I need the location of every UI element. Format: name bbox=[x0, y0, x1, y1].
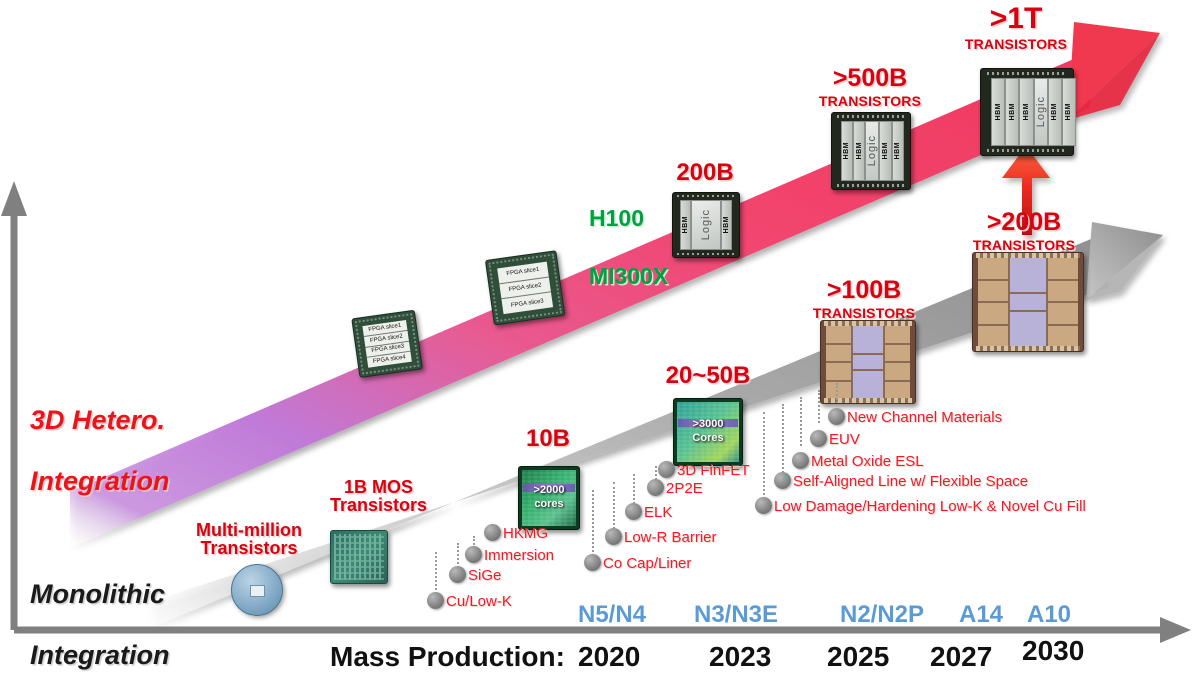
leader-line bbox=[818, 390, 820, 423]
count-500b: >500B TRANSISTORS bbox=[808, 66, 932, 108]
year-label-2025: 2025 bbox=[827, 641, 889, 673]
node-label-a10: A10 bbox=[1027, 601, 1071, 629]
tech-label-self-aligned-line: Self-Aligned Line w/ Flexible Space bbox=[793, 473, 1028, 490]
bullet-dot bbox=[484, 524, 501, 541]
tech-label-elk: ELK bbox=[644, 504, 672, 521]
tech-label-sige: SiGe bbox=[468, 567, 501, 584]
year-label-2030: 2030 bbox=[1022, 635, 1084, 667]
node-label-n5-n4: N5/N4 bbox=[578, 601, 646, 629]
bullet-dot bbox=[584, 554, 601, 571]
leader-line bbox=[457, 543, 459, 568]
y-axis-arrow bbox=[1, 181, 27, 630]
band-label-3d-hetero: 3D Hetero. Integration bbox=[30, 375, 170, 496]
leader-line bbox=[782, 404, 784, 473]
tech-label-cu-low-k: Cu/Low-K bbox=[446, 593, 512, 610]
chip-200b-hbm-package: HBM Logic HBM bbox=[672, 192, 738, 256]
bullet-dot bbox=[625, 503, 642, 520]
count-100b: >100B TRANSISTORS bbox=[812, 278, 916, 320]
count-200b-monolithic: >200B TRANSISTORS bbox=[964, 210, 1084, 252]
bullet-dot bbox=[465, 546, 482, 563]
tech-label-low-damage-hardening: Low Damage/Hardening Low-K & Novel Cu Fi… bbox=[774, 498, 1086, 515]
band-label-mono-line1: Monolithic bbox=[30, 579, 165, 609]
leader-line bbox=[633, 474, 635, 504]
hbm-label: HBM bbox=[882, 142, 889, 159]
bullet-dot bbox=[427, 592, 444, 609]
bullet-dot bbox=[774, 472, 791, 489]
bullet-dot bbox=[449, 566, 466, 583]
hbm-label: HBM bbox=[1023, 103, 1030, 120]
bullet-dot bbox=[810, 430, 827, 447]
chip-500b-hbm-package: HBM HBM Logic HBM HBM bbox=[831, 112, 909, 188]
roadmap-diagram: 3D Hetero. Integration Monolithic Integr… bbox=[0, 0, 1200, 683]
tech-label-3d-finfet: 3D FinFET bbox=[677, 462, 750, 479]
logic-label: Logic bbox=[700, 209, 712, 240]
chip-1t-hbm-package: HBM HBM HBM Logic HBM HBM bbox=[980, 68, 1072, 154]
mass-production-label: Mass Production: bbox=[330, 641, 565, 673]
tech-label-metal-oxide-esl: Metal Oxide ESL bbox=[811, 453, 924, 470]
band-label-3d-line2: Integration bbox=[30, 466, 170, 496]
node-label-n3-n3e: N3/N3E bbox=[694, 601, 778, 629]
cores2000-line1: >2000 bbox=[534, 484, 565, 496]
leader-line bbox=[655, 466, 657, 480]
tech-label-low-r-barrier: Low-R Barrier bbox=[624, 529, 717, 546]
leader-line bbox=[613, 482, 615, 529]
tech-label-2p2e: 2P2E bbox=[666, 480, 703, 497]
hbm-label: HBM bbox=[894, 142, 901, 159]
count-multi-million: Multi-million Transistors bbox=[196, 521, 302, 557]
chip-100b-die bbox=[820, 320, 908, 396]
hbm-label: HBM bbox=[995, 103, 1002, 120]
tech-label-co-cap-liner: Co Cap/Liner bbox=[603, 555, 691, 572]
node-label-a14: A14 bbox=[959, 601, 1003, 629]
band-label-3d-line1: 3D Hetero. bbox=[30, 405, 165, 435]
bullet-dot bbox=[828, 408, 845, 425]
leader-line bbox=[435, 552, 437, 594]
logic-label: Logic bbox=[1035, 96, 1047, 127]
hbm-label: HBM bbox=[1009, 103, 1016, 120]
cores3000-line1: >3000 bbox=[693, 418, 724, 430]
count-10b: 10B bbox=[518, 427, 578, 451]
tech-label-hkmg: HKMG bbox=[503, 525, 548, 542]
logic-label: Logic bbox=[866, 135, 878, 166]
year-label-2027: 2027 bbox=[930, 641, 992, 673]
bullet-dot bbox=[792, 452, 809, 469]
leader-line bbox=[800, 397, 802, 446]
count-20-50b: 20~50B bbox=[660, 364, 756, 388]
leader-line bbox=[763, 412, 765, 499]
chip-fpga-4slice: FPGA slice1 FPGA slice2 FPGA slice3 FPGA… bbox=[351, 310, 420, 376]
bullet-dot bbox=[658, 461, 675, 478]
count-1b-mos: 1B MOS Transistors bbox=[330, 478, 427, 514]
hbm-label: HBM bbox=[856, 142, 863, 159]
chip-3000-cores-die: >3000 Cores bbox=[673, 398, 741, 464]
leader-line bbox=[592, 490, 594, 556]
hbm-label: HBM bbox=[723, 216, 730, 233]
year-label-2023: 2023 bbox=[709, 641, 771, 673]
bullet-dot bbox=[755, 497, 772, 514]
leader-line bbox=[836, 383, 838, 403]
tech-label-new-channel-materials: New Channel Materials bbox=[847, 409, 1002, 426]
chip-200b-die bbox=[972, 252, 1076, 344]
band-label-mono-line2: Integration bbox=[30, 640, 170, 670]
cores2000-line2: cores bbox=[534, 498, 563, 510]
hbm-label: HBM bbox=[1051, 103, 1058, 120]
accelerator-label-mi300x: MI300X bbox=[589, 263, 668, 290]
chip-1b-mos-die bbox=[330, 530, 386, 582]
hbm-label: HBM bbox=[682, 216, 689, 233]
hbm-label: HBM bbox=[1065, 103, 1072, 120]
hbm-label: HBM bbox=[843, 142, 850, 159]
node-label-n2-n2p: N2/N2P bbox=[840, 601, 924, 629]
chip-2000-cores-die: >2000 cores bbox=[518, 466, 578, 528]
chip-multi-million-wafer bbox=[231, 564, 281, 614]
tech-label-immersion: Immersion bbox=[484, 547, 554, 564]
count-1t: >1T TRANSISTORS bbox=[948, 4, 1084, 51]
cores3000-line2: Cores bbox=[692, 432, 723, 444]
accelerator-label-h100: H100 bbox=[589, 205, 644, 232]
bullet-dot bbox=[647, 479, 664, 496]
chip-fpga-3slice: FPGA slice1 FPGA slice2 FPGA slice3 bbox=[485, 250, 563, 323]
bullet-dot bbox=[605, 528, 622, 545]
count-200b-3d: 200B bbox=[664, 161, 746, 185]
band-label-monolithic: Monolithic Integration bbox=[30, 549, 170, 670]
year-label-2020: 2020 bbox=[578, 641, 640, 673]
tech-label-euv: EUV bbox=[829, 431, 860, 448]
